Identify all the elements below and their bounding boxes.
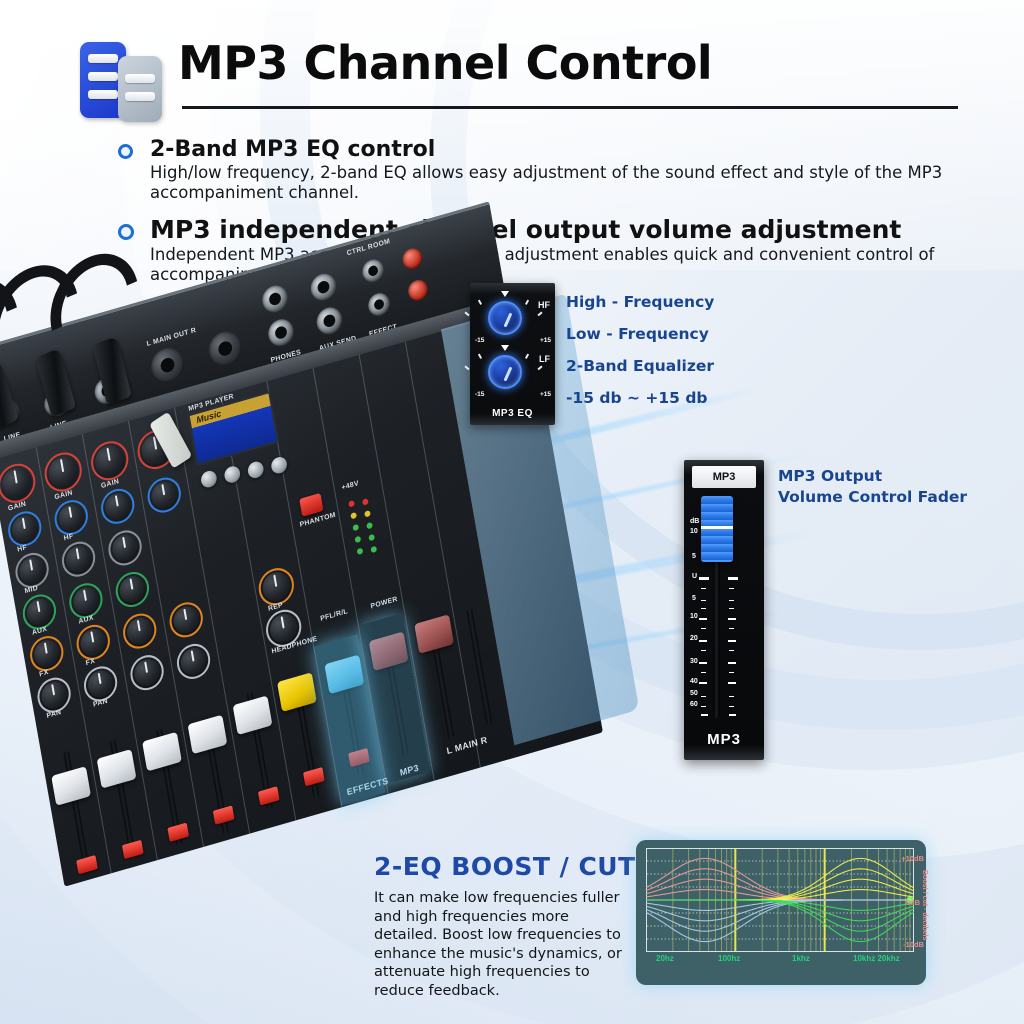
eq-callout-list: High - Frequency Low - Frequency 2-Band … <box>566 293 714 421</box>
x-tick-label: 10khz 20khz <box>853 954 900 963</box>
pfl-button[interactable] <box>213 805 235 824</box>
mp3-prev-button[interactable] <box>200 469 218 489</box>
gain-knob[interactable] <box>0 464 34 502</box>
eq-callout-item: High - Frequency <box>566 293 714 311</box>
pfl-button[interactable] <box>76 855 98 874</box>
eq-callout-item: -15 db ~ +15 db <box>566 389 714 407</box>
boost-cut-title: 2-EQ BOOST / CUT <box>374 852 624 881</box>
fx-knob[interactable] <box>125 615 155 648</box>
fx-knob[interactable] <box>78 626 108 659</box>
aux-send-knob[interactable] <box>71 584 101 617</box>
hf-eq-knob[interactable] <box>56 501 86 534</box>
aux-master-fader[interactable] <box>277 672 317 712</box>
y-tick-label: 0dB <box>906 898 920 907</box>
channel-fader[interactable] <box>142 732 182 772</box>
feature-body: High/low frequency, 2-band EQ allows eas… <box>150 163 978 203</box>
feature-heading: MP3 independent channel output volume ad… <box>150 215 978 245</box>
x-tick-label: 20hz <box>656 954 674 963</box>
fader-unit-label: dB <box>690 518 699 525</box>
hf-max-label: +15 <box>540 337 551 344</box>
gain-knob[interactable] <box>93 442 127 480</box>
boost-cut-body: It can make low frequencies fuller and h… <box>374 889 624 1000</box>
mid-eq-knob[interactable] <box>110 531 140 564</box>
fx-knob[interactable] <box>171 603 201 636</box>
y-tick-label: -10dB <box>903 940 924 949</box>
mp3-callout-line-1: MP3 Output <box>778 466 967 487</box>
y-axis-title: Boost / cut - decibels <box>921 870 928 940</box>
x-tick-label: 1khz <box>792 954 810 963</box>
fader-scale-label: 10 <box>690 528 698 535</box>
mp3-play-button[interactable] <box>223 464 241 484</box>
pan-knob[interactable] <box>179 645 209 678</box>
infographic-canvas: MP3 Channel Control 2-Band MP3 EQ contro… <box>0 0 1024 1024</box>
page-header: MP3 Channel Control <box>78 36 958 128</box>
lf-knob-label: LF <box>539 354 550 364</box>
eq-curve <box>646 858 914 900</box>
mp3-next-button[interactable] <box>247 460 265 480</box>
eq-chart-x-axis: 20hz 100hz 1khz 10khz 20khz <box>646 954 916 968</box>
eq-callout-item: 2-Band Equalizer <box>566 357 714 375</box>
rep-knob[interactable] <box>260 569 292 604</box>
mp3-output-fader-module: MP3 dB 10 5 U 5 10 20 30 40 50 60 <box>684 460 764 760</box>
mp3-eq-module: HF -15 +15 LF -15 +15 MP3 EQ <box>470 283 555 425</box>
title-underline <box>182 106 958 109</box>
fader-scale-label: 60 <box>690 701 698 708</box>
aux-send-knob[interactable] <box>25 596 55 629</box>
eq-curve <box>646 900 914 931</box>
mp3-fader-top-label: MP3 <box>692 466 756 488</box>
channel-fader[interactable] <box>51 766 91 806</box>
phantom-power-button[interactable] <box>299 493 323 517</box>
y-tick-label: +10dB <box>901 854 924 863</box>
mid-eq-knob[interactable] <box>17 554 47 587</box>
pfl-button[interactable] <box>303 767 325 786</box>
fader-scale-label: 50 <box>690 690 698 697</box>
center-detent-icon <box>501 291 509 297</box>
lf-max-label: +15 <box>540 391 551 398</box>
fx-knob[interactable] <box>32 637 62 670</box>
hf-eq-knob[interactable] <box>10 512 40 545</box>
lf-eq-knob[interactable] <box>488 355 522 389</box>
pfl-button[interactable] <box>122 840 144 859</box>
pfl-button[interactable] <box>167 823 189 842</box>
hf-eq-knob[interactable] <box>149 479 179 512</box>
fader-index-line <box>701 526 733 529</box>
eq-callout-item: Low - Frequency <box>566 325 714 343</box>
hf-min-label: -15 <box>475 337 484 344</box>
mp3-fader-callout: MP3 Output Volume Control Fader <box>778 466 967 508</box>
fader-scale-label: 30 <box>690 658 698 665</box>
page-title: MP3 Channel Control <box>178 36 712 90</box>
fader-scale-label: 10 <box>690 613 698 620</box>
mp3-volume-fader-handle[interactable] <box>701 496 733 562</box>
pan-knob[interactable] <box>132 656 162 689</box>
mp3-callout-line-2: Volume Control Fader <box>778 487 967 508</box>
channel-fader[interactable] <box>188 715 228 755</box>
fader-scale-label: 5 <box>692 595 696 602</box>
x-tick-label: 100hz <box>718 954 740 963</box>
bullet-ring-icon <box>118 144 133 159</box>
lcd-track-label: Music <box>196 408 222 425</box>
mp3-eq-module-label: MP3 EQ <box>470 408 555 419</box>
pfl-button[interactable] <box>258 786 280 805</box>
mp3-fader-bottom-label: MP3 <box>684 731 764 748</box>
eq-curve <box>646 900 914 942</box>
aux-send-knob[interactable] <box>118 573 148 606</box>
channel-fader[interactable] <box>97 749 137 789</box>
power-label: POWER <box>370 596 398 611</box>
channel-fader[interactable] <box>233 695 273 735</box>
lf-min-label: -15 <box>475 391 484 398</box>
pfl-rl-label: PFL/R/L <box>320 608 349 623</box>
fader-slider-icon <box>78 42 166 120</box>
eq-curve <box>646 869 914 900</box>
pan-knob[interactable] <box>86 667 116 700</box>
mp3-menu-button[interactable] <box>270 455 288 475</box>
gain-knob[interactable] <box>46 453 80 491</box>
fader-scale-label: U <box>692 573 697 580</box>
main-fader[interactable] <box>414 614 454 654</box>
eq-response-chart: 20hz 100hz 1khz 10khz 20khz +10dB 0dB -1… <box>636 840 926 985</box>
fader-scale-label: 20 <box>690 635 698 642</box>
hf-eq-knob[interactable] <box>488 301 522 335</box>
feature-heading: 2-Band MP3 EQ control <box>150 137 978 163</box>
pan-knob[interactable] <box>39 679 69 712</box>
eq-curves-svg <box>646 848 914 952</box>
phantom-voltage-label: +48V <box>341 480 359 492</box>
fader-scale-label: 40 <box>690 678 698 685</box>
hf-knob-label: HF <box>538 300 550 310</box>
eq-chart-plot-area <box>646 848 916 952</box>
hf-eq-knob[interactable] <box>103 490 133 523</box>
center-detent-icon <box>501 345 509 351</box>
bullet-ring-icon <box>118 224 134 240</box>
boost-cut-section: 2-EQ BOOST / CUT It can make low frequen… <box>374 852 624 1000</box>
mid-eq-knob[interactable] <box>64 543 94 576</box>
fader-scale-label: 5 <box>692 553 696 560</box>
